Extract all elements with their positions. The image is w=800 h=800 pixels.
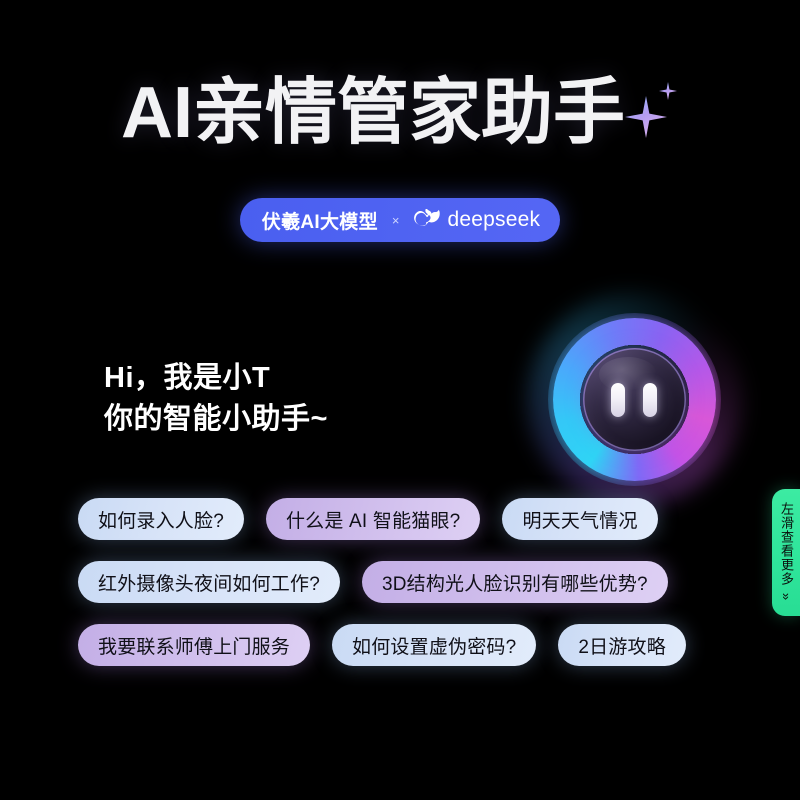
orb-eye-left-icon [611,383,625,417]
suggestion-chip[interactable]: 什么是 AI 智能猫眼? [266,498,480,540]
suggestion-chips: 如何录入人脸? 什么是 AI 智能猫眼? 明天天气情况 红外摄像头夜间如何工作?… [78,498,738,666]
brand-badge[interactable]: 伏羲AI大模型 × deepseek [240,198,560,242]
suggestion-chip[interactable]: 如何设置虚伪密码? [332,624,536,666]
page-title: AI亲情管家助手 [121,74,625,152]
orb-eye-right-icon [643,383,657,417]
suggestion-chip[interactable]: 3D结构光人脸识别有哪些优势? [362,561,668,603]
suggestion-chip[interactable]: 明天天气情况 [502,498,657,540]
suggestion-chip[interactable]: 2日游攻略 [558,624,686,666]
suggestion-chip[interactable]: 如何录入人脸? [78,498,244,540]
brand-badge-row: 伏羲AI大模型 × deepseek [0,198,800,242]
slide-more-label: 左滑查看更多 [778,502,794,586]
deepseek-wordmark: deepseek [448,208,541,232]
title-sparkle-group [621,74,679,154]
model-label: 伏羲AI大模型 [262,207,378,234]
orb-core [583,348,686,451]
greeting-line-2: 你的智能小助手~ [104,399,328,440]
badge-separator: × [390,213,402,228]
page-title-row: AI亲情管家助手 [0,74,800,154]
app-screen: AI亲情管家助手 伏羲AI大模型 × deepseek Hi，我是小T 你的智能… [0,0,800,800]
sparkle-small-icon [659,82,677,100]
sparkle-icon [625,96,667,138]
suggestion-row: 红外摄像头夜间如何工作? 3D结构光人脸识别有哪些优势? [78,561,738,603]
suggestion-row: 如何录入人脸? 什么是 AI 智能猫眼? 明天天气情况 [78,498,738,540]
chevron-right-icon: » [778,593,794,601]
slide-more-tab[interactable]: 左滑查看更多 » [772,489,800,616]
assistant-greeting: Hi，我是小T 你的智能小助手~ [104,358,328,440]
deepseek-lockup: deepseek [414,208,541,232]
assistant-avatar-orb[interactable] [553,318,716,481]
suggestion-chip[interactable]: 我要联系师傅上门服务 [78,624,310,666]
deepseek-whale-icon [414,209,441,231]
greeting-line-1: Hi，我是小T [104,358,328,399]
suggestion-chip[interactable]: 红外摄像头夜间如何工作? [78,561,340,603]
suggestion-row: 我要联系师傅上门服务 如何设置虚伪密码? 2日游攻略 [78,624,738,666]
